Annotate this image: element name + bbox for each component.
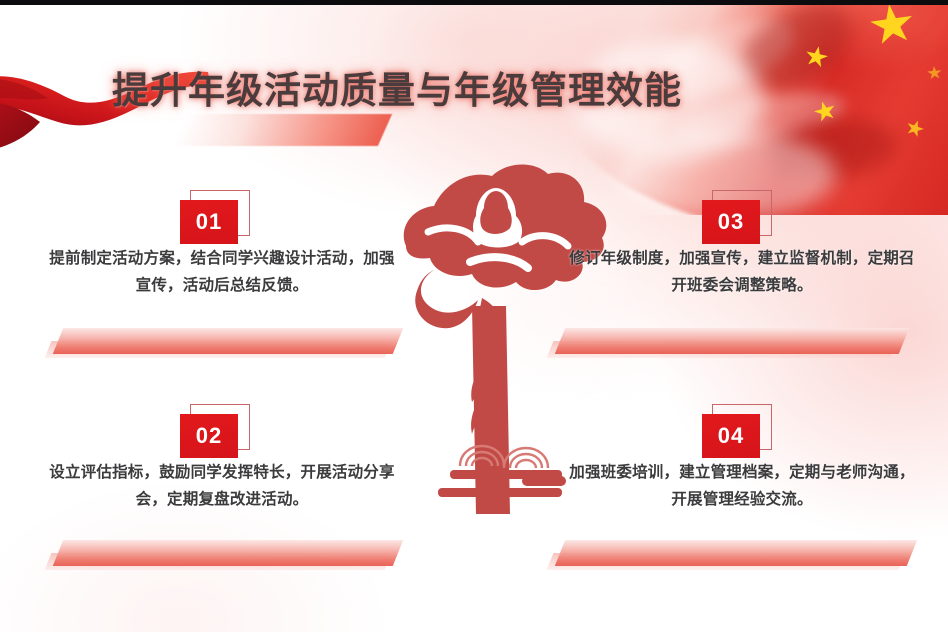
number-badge-02: 02	[42, 400, 402, 460]
content-block-03: 03 修订年级制度，加强宣传，建立监督机制，定期召开班委会调整策略。	[562, 186, 922, 299]
block-body-text: 修订年级制度，加强宣传，建立监督机制，定期召开班委会调整策略。	[562, 246, 922, 299]
badge-number: 01	[196, 211, 222, 234]
badge-solid: 01	[180, 200, 238, 244]
number-badge-01: 01	[42, 186, 402, 246]
number-badge-03: 03	[562, 186, 922, 246]
content-block-01: 01 提前制定活动方案，结合同学兴趣设计活动，加强宣传，活动后总结反馈。	[42, 186, 402, 299]
decor-bar-slab	[53, 328, 404, 354]
block-body-text: 设立评估指标，鼓励同学发挥特长，开展活动分享会，定期复盘改进活动。	[42, 460, 402, 513]
page-title: 提升年级活动质量与年级管理效能	[112, 60, 682, 114]
content-block-04: 04 加强班委培训，建立管理档案，定期与老师沟通，开展管理经验交流。	[562, 400, 922, 513]
badge-solid: 04	[702, 414, 760, 458]
content-block-02: 02 设立评估指标，鼓励同学发挥特长，开展活动分享会，定期复盘改进活动。	[42, 400, 402, 513]
decor-bar-slab	[555, 540, 918, 566]
badge-solid: 03	[702, 200, 760, 244]
block-body-text: 加强班委培训，建立管理档案，定期与老师沟通，开展管理经验交流。	[562, 460, 922, 513]
block-body-text: 提前制定活动方案，结合同学兴趣设计活动，加强宣传，活动后总结反馈。	[42, 246, 402, 299]
badge-number: 04	[718, 425, 744, 448]
top-edge-strip	[0, 0, 948, 5]
badge-number: 02	[196, 425, 222, 448]
number-badge-04: 04	[562, 400, 922, 460]
page-title-text: 提升年级活动质量与年级管理效能	[112, 60, 682, 114]
badge-solid: 02	[180, 414, 238, 458]
slide-canvas: 提升年级活动质量与年级管理效能	[0, 0, 948, 632]
title-underline-bar	[173, 114, 392, 146]
decor-bar-slab	[53, 540, 404, 566]
badge-number: 03	[718, 211, 744, 234]
